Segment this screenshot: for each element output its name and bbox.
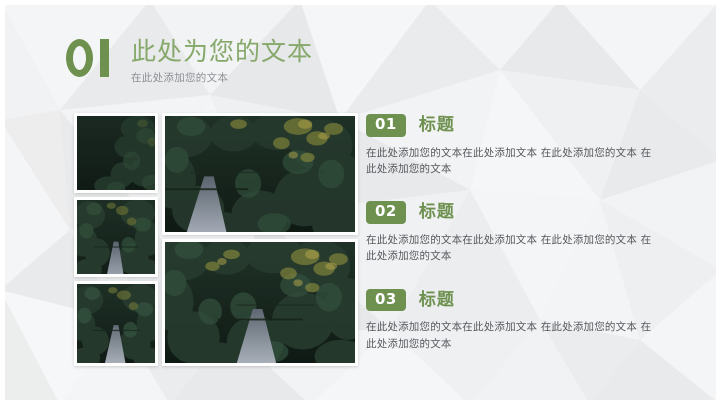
- photo-collage: [74, 113, 358, 366]
- content-item-02-badge: 02: [366, 201, 406, 224]
- content-item-03-heading: 03 标题: [366, 289, 658, 312]
- content-item-02-heading: 02 标题: [366, 201, 658, 224]
- content-item-01-heading: 01 标题: [366, 114, 658, 137]
- photo-bottom-right[interactable]: [162, 239, 358, 366]
- header-number-one-glyph: [100, 39, 109, 77]
- content-item-03-body: 在此处添加您的文本在此处添加文本 在此处添加您的文本 在此处添加您的文本: [366, 319, 658, 352]
- content-item-01-title: 标题: [419, 117, 455, 134]
- content-item-03-title: 标题: [419, 292, 455, 309]
- photo-middle-left[interactable]: [74, 197, 158, 277]
- content-item-03-badge: 03: [366, 289, 406, 312]
- slide-header: 此处为您的文本 在此处添加您的文本: [66, 38, 313, 85]
- photo-bottom-left[interactable]: [74, 281, 158, 366]
- photo-top-left[interactable]: [74, 113, 158, 193]
- header-number-01: [66, 39, 109, 77]
- photo-top-left-image: [77, 116, 155, 190]
- content-item-02: 02 标题 在此处添加您的文本在此处添加文本 在此处添加您的文本 在此处添加您的…: [366, 201, 658, 264]
- page-subtitle: 在此处添加您的文本: [131, 70, 313, 85]
- photo-middle-left-image: [77, 200, 155, 274]
- photo-top-right[interactable]: [162, 113, 358, 235]
- slide-canvas: 此处为您的文本 在此处添加您的文本: [0, 0, 721, 405]
- content-item-02-title: 标题: [419, 204, 455, 221]
- content-item-02-body: 在此处添加您的文本在此处添加文本 在此处添加您的文本 在此处添加您的文本: [366, 232, 658, 265]
- content-list: 01 标题 在此处添加您的文本在此处添加文本 在此处添加您的文本 在此处添加您的…: [366, 114, 658, 352]
- header-text-group: 此处为您的文本 在此处添加您的文本: [131, 38, 313, 85]
- content-item-03: 03 标题 在此处添加您的文本在此处添加文本 在此处添加您的文本 在此处添加您的…: [366, 289, 658, 352]
- content-item-01-body: 在此处添加您的文本在此处添加文本 在此处添加您的文本 在此处添加您的文本: [366, 145, 658, 178]
- page-title: 此处为您的文本: [131, 38, 313, 66]
- photo-bottom-right-image: [165, 242, 355, 363]
- photo-top-right-image: [165, 116, 355, 232]
- content-item-01-badge: 01: [366, 114, 406, 137]
- photo-bottom-left-image: [77, 284, 155, 363]
- header-number-zero-glyph: [66, 39, 93, 77]
- content-item-01: 01 标题 在此处添加您的文本在此处添加文本 在此处添加您的文本 在此处添加您的…: [366, 114, 658, 177]
